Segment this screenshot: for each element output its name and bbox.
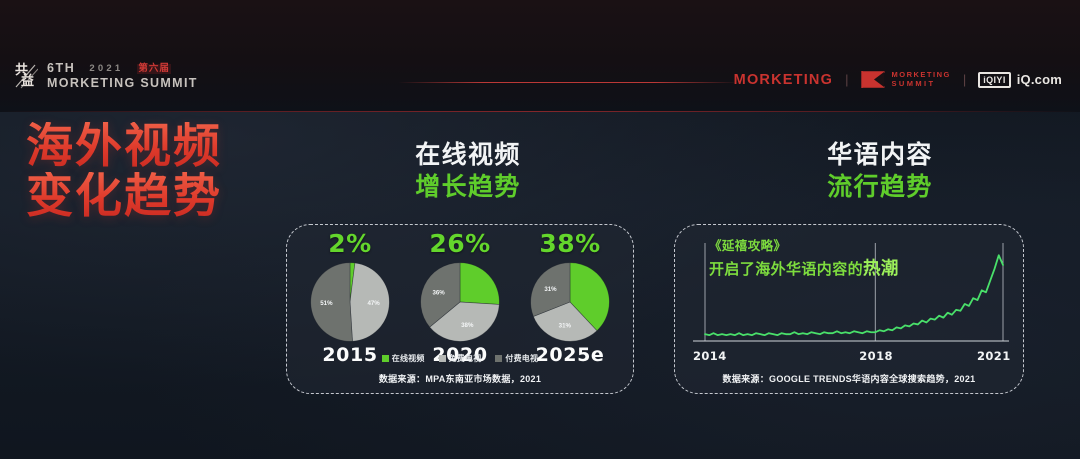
slide-title-line2: 变化趋势: [26, 172, 222, 222]
iqiyi-mark: iQIYI: [978, 72, 1011, 88]
pie-chart-panel: 2% 47%51% 2015 26% 38%36% 2020 38% 31%31…: [286, 224, 634, 394]
partner-logos: MORKETING | MORKETING SUMMIT | iQIYI iQ.…: [734, 70, 1062, 89]
pie-svg-2025e: 31%31%: [529, 261, 611, 343]
summit-flag-icon: [860, 70, 886, 89]
legend-label: 在线视频: [392, 353, 425, 364]
x-tick-label: 2014: [693, 349, 727, 363]
edition-cn-label: 第六届: [137, 64, 171, 74]
slide-root: 共 益 6TH 2021 第六届 MORKETING SUMMIT MORKET…: [0, 0, 1080, 459]
morketing-summit-logo: MORKETING SUMMIT: [860, 70, 950, 89]
section-left-line1: 在线视频: [358, 140, 578, 170]
pie-svg-2015: 47%51%: [309, 261, 391, 343]
section-heading-left: 在线视频 增长趋势: [358, 140, 578, 202]
pie-slice-label: 31%: [544, 286, 557, 293]
x-tick-label: 2018: [859, 349, 893, 363]
pie-headline-2020: 26%: [410, 231, 510, 257]
summit-en-label: MORKETING SUMMIT: [47, 77, 198, 90]
pie-chart-2025e: 38% 31%31% 2025e: [520, 231, 620, 366]
pie-slice-label: 47%: [367, 300, 380, 307]
line-chart-panel: 《延禧攻略》 开启了海外华语内容的热潮 201420182021 数据来源：GO…: [674, 224, 1024, 394]
legend-item: 在线视频: [382, 353, 425, 364]
legend-label: 免费电视: [449, 353, 482, 364]
legend-swatch-icon: [382, 355, 389, 362]
annotation-body-pre: 开启了海外华语内容的: [709, 261, 863, 278]
slide-title: 海外视频 变化趋势: [26, 122, 222, 222]
pie-svg-2020: 38%36%: [419, 261, 501, 343]
legend-item: 免费电视: [439, 353, 482, 364]
event-brand-left: 共 益 6TH 2021 第六届 MORKETING SUMMIT: [14, 62, 198, 90]
logo-separator-1: |: [845, 72, 848, 87]
section-right-line2: 流行趋势: [770, 172, 990, 202]
iqiyi-domain-label: iQ.com: [1017, 72, 1062, 87]
header-background: [0, 0, 1080, 112]
line-chart-x-axis: 201420182021: [687, 349, 1011, 365]
pie-headline-2015: 2%: [300, 231, 400, 257]
x-tick-label: 2021: [977, 349, 1011, 363]
slide-header: 共 益 6TH 2021 第六届 MORKETING SUMMIT MORKET…: [0, 0, 1080, 112]
logo-separator-2: |: [963, 72, 966, 87]
pie-slice: [460, 263, 499, 305]
pie-chart-row: 2% 47%51% 2015 26% 38%36% 2020 38% 31%31…: [287, 231, 633, 366]
pie-chart-2015: 2% 47%51% 2015: [300, 231, 400, 366]
edition-year-label: 2021: [89, 64, 123, 74]
pie-slice-label: 31%: [559, 323, 572, 330]
header-rule-divider: [398, 82, 740, 83]
pie-legend: 在线视频免费电视付费电视: [287, 353, 633, 364]
annotation-body: 开启了海外华语内容的热潮: [709, 258, 899, 280]
iqiyi-logo: iQIYI iQ.com: [978, 72, 1062, 88]
section-right-line1: 华语内容: [770, 140, 990, 170]
pie-headline-2025e: 38%: [520, 231, 620, 257]
section-left-line2: 增长趋势: [358, 172, 578, 202]
edition-en-label: 6TH: [47, 62, 75, 75]
legend-label: 付费电视: [505, 353, 538, 364]
pie-slice-label: 36%: [432, 289, 445, 296]
pie-source-note: 数据来源：MPA东南亚市场数据，2021: [287, 372, 633, 385]
pie-chart-2020: 26% 38%36% 2020: [410, 231, 510, 366]
trend-annotation: 《延禧攻略》 开启了海外华语内容的热潮: [709, 239, 899, 280]
header-bottom-hairline: [0, 111, 1080, 112]
legend-swatch-icon: [495, 355, 502, 362]
section-heading-right: 华语内容 流行趋势: [770, 140, 990, 202]
pie-slice-label: 51%: [320, 300, 333, 307]
morketing-wordmark: MORKETING: [734, 72, 833, 88]
annotation-body-highlight: 热潮: [863, 258, 899, 278]
ms-logo-line2: SUMMIT: [891, 80, 950, 88]
gong-ying-mark-icon: 共 益: [14, 62, 38, 90]
line-source-note: 数据来源：GOOGLE TRENDS华语内容全球搜索趋势，2021: [675, 372, 1023, 385]
pie-slice-label: 38%: [461, 322, 474, 329]
slide-title-line1: 海外视频: [26, 122, 222, 172]
event-brand-text: 6TH 2021 第六届 MORKETING SUMMIT: [47, 62, 198, 90]
legend-swatch-icon: [439, 355, 446, 362]
legend-item: 付费电视: [495, 353, 538, 364]
annotation-title: 《延禧攻略》: [709, 239, 899, 255]
